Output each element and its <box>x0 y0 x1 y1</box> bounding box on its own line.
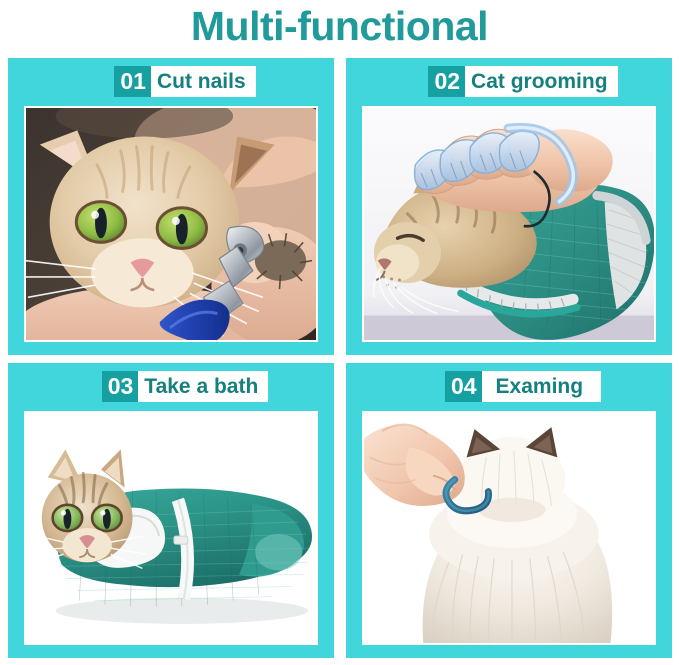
photo-cat-grooming <box>364 108 654 340</box>
panel-number-2: 02 <box>428 66 465 97</box>
photo-frame-1 <box>24 106 318 342</box>
panel-label-2: Cat grooming <box>465 66 618 97</box>
panel-header-2: 02 Cat grooming <box>428 66 617 97</box>
panel-number-1: 01 <box>114 66 151 97</box>
panel-cat-grooming[interactable]: 02 Cat grooming <box>346 58 672 355</box>
photo-cut-nails <box>26 108 316 340</box>
photo-frame-3 <box>24 411 318 645</box>
page-title: Multi-functional <box>191 6 488 47</box>
panel-label-3: Take a bath <box>138 371 268 402</box>
photo-take-a-bath <box>26 413 316 643</box>
panel-header-1: 01 Cut nails <box>114 66 255 97</box>
photo-frame-2 <box>362 106 656 342</box>
panel-examing[interactable]: 04 Examing <box>346 363 672 658</box>
photo-frame-4 <box>362 411 656 645</box>
panel-label-4: Examing <box>482 371 602 402</box>
page-title-bar: Multi-functional <box>0 0 679 52</box>
photo-examing <box>364 413 654 643</box>
panel-take-a-bath[interactable]: 03 Take a bath <box>8 363 334 658</box>
feature-panel-grid: 01 Cut nails <box>8 58 672 658</box>
panel-number-4: 04 <box>445 371 482 402</box>
panel-cut-nails[interactable]: 01 Cut nails <box>8 58 334 355</box>
panel-header-4: 04 Examing <box>445 371 601 402</box>
panel-number-3: 03 <box>102 371 139 402</box>
panel-header-3: 03 Take a bath <box>102 371 269 402</box>
panel-label-1: Cut nails <box>151 66 256 97</box>
